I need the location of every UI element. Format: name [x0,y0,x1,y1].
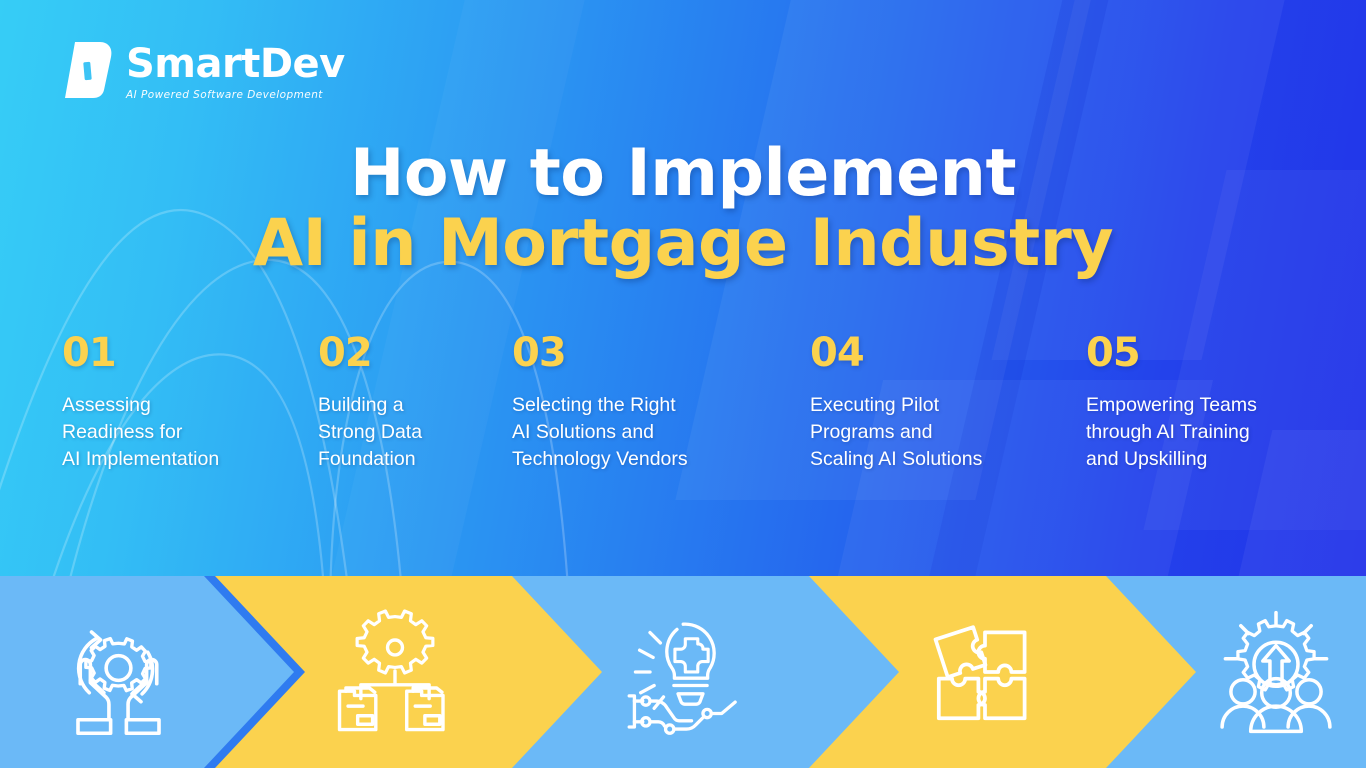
step-item-03[interactable]: 03 Selecting the Right AI Solutions and … [512,333,777,473]
step-number: 03 [512,333,777,373]
gear-with-data-folders-icon [300,576,490,768]
steps-list: 01 Assessing Readiness for AI Implementa… [0,333,1366,513]
step-item-02[interactable]: 02 Building a Strong Data Foundation [318,333,508,473]
step-label: Assessing Readiness for AI Implementatio… [62,392,302,473]
lightbulb-puzzle-on-hand-icon [595,576,785,768]
brand-logo[interactable]: SmartDev AI Powered Software Development [60,40,345,101]
step-item-05[interactable]: 05 Empowering Teams through AI Training … [1086,333,1336,473]
title-line-primary: How to Implement [0,140,1366,208]
page-title: How to Implement AI in Mortgage Industry [0,140,1366,280]
puzzle-pieces-icon [890,576,1080,768]
decorative-diagonal-stripe [919,0,1127,620]
step-number: 02 [318,333,508,373]
step-label: Executing Pilot Programs and Scaling AI … [810,392,1060,473]
step-number: 05 [1086,333,1336,373]
team-gear-uparrow-icon [1186,576,1366,768]
step-item-01[interactable]: 01 Assessing Readiness for AI Implementa… [62,333,302,473]
chevron-icon-band [0,576,1366,768]
brand-name: SmartDev [126,44,345,84]
step-number: 04 [810,333,1060,373]
step-label: Selecting the Right AI Solutions and Tec… [512,392,777,473]
hands-holding-gear-icon [28,576,208,768]
infographic-canvas: SmartDev AI Powered Software Development… [0,0,1366,768]
step-label: Building a Strong Data Foundation [318,392,508,473]
brand-tagline: AI Powered Software Development [126,89,345,101]
step-number: 01 [62,333,302,373]
title-line-accent: AI in Mortgage Industry [0,208,1366,281]
step-item-04[interactable]: 04 Executing Pilot Programs and Scaling … [810,333,1060,473]
step-label: Empowering Teams through AI Training and… [1086,392,1336,473]
smartdev-d-logo-icon [60,40,114,100]
